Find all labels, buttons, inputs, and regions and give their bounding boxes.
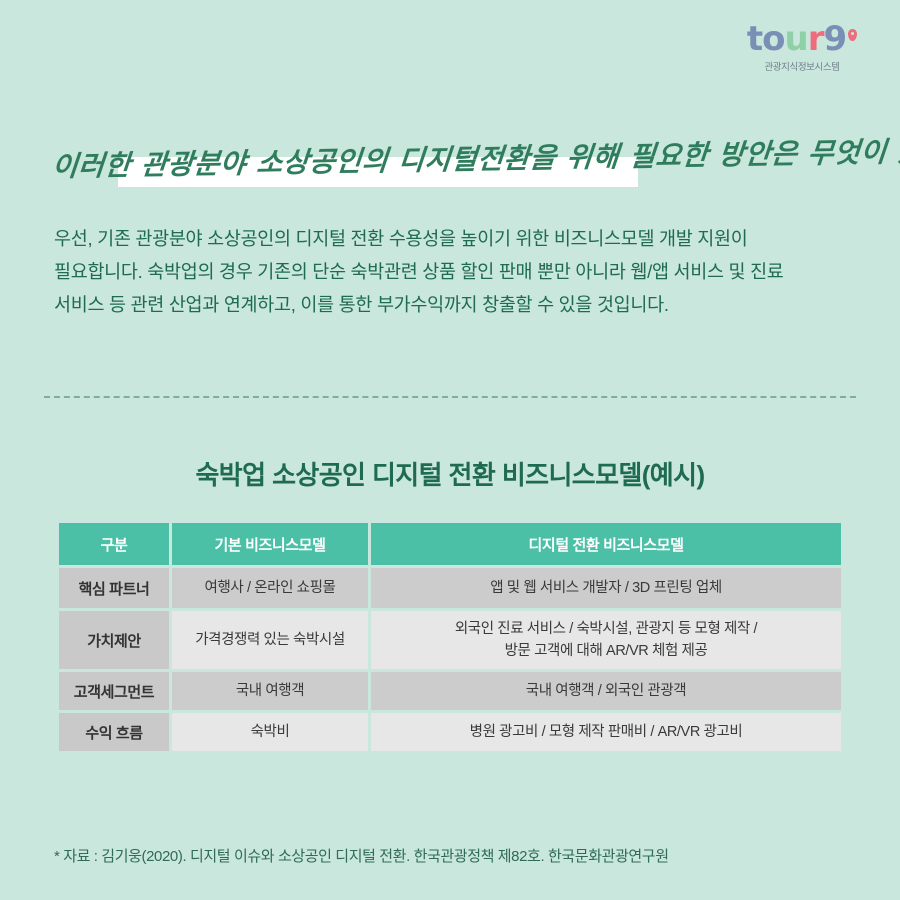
source-note: * 자료 : 김기웅(2020). 디지털 이슈와 소상공인 디지털 전환. 한…: [54, 845, 669, 866]
row-label-revenue-stream: 수익 흐름: [59, 713, 169, 751]
table-row: 고객세그먼트 국내 여행객 국내 여행객 / 외국인 관광객: [59, 672, 841, 710]
headline: 이러한 관광분야 소상공인의 디지털전환을 위해 필요한 방안은 무엇이 있을까…: [52, 143, 862, 191]
cell-basic-key-partners: 여행사 / 온라인 쇼핑몰: [172, 568, 368, 608]
row-label-value-proposition: 가치제안: [59, 611, 169, 669]
map-pin-icon: [848, 29, 857, 41]
table-row: 가치제안 가격경쟁력 있는 숙박시설 외국인 진료 서비스 / 숙박시설, 관광…: [59, 611, 841, 669]
dashed-divider: [44, 396, 856, 398]
cell-digital-revenue-stream: 병원 광고비 / 모형 제작 판매비 / AR/VR 광고비: [371, 713, 841, 751]
logo-letter-u: u: [784, 22, 807, 56]
cell-basic-customer-segment: 국내 여행객: [172, 672, 368, 710]
headline-text: 이러한 관광분야 소상공인의 디지털전환을 위해 필요한 방안은 무엇이 있을까…: [50, 129, 866, 191]
row-label-key-partners: 핵심 파트너: [59, 568, 169, 608]
logo-letter-t: t: [747, 22, 762, 56]
cell-digital-value-proposition: 외국인 진료 서비스 / 숙박시설, 관광지 등 모형 제작 / 방문 고객에 …: [371, 611, 841, 669]
body-line-2: 필요합니다. 숙박업의 경우 기존의 단순 숙박관련 상품 할인 판매 뿐만 아…: [54, 255, 866, 288]
body-line-1: 우선, 기존 관광분야 소상공인의 디지털 전환 수용성을 높이기 위한 비즈니…: [54, 222, 866, 255]
row-label-customer-segment: 고객세그먼트: [59, 672, 169, 710]
logo-letter-r: r: [808, 22, 824, 56]
logo-subtitle: 관광지식정보시스템: [732, 59, 872, 73]
table-header-row: 구분 기본 비즈니스모델 디지털 전환 비즈니스모델: [59, 523, 841, 565]
body-line-3: 서비스 등 관련 산업과 연계하고, 이를 통한 부가수익까지 창출할 수 있을…: [54, 288, 866, 321]
logo-letter-o: o: [762, 22, 784, 56]
column-header-basic-model: 기본 비즈니스모델: [172, 523, 368, 565]
table-title: 숙박업 소상공인 디지털 전환 비즈니스모델(예시): [0, 455, 900, 492]
cell-digital-value-proposition-line2: 방문 고객에 대해 AR/VR 체험 제공: [379, 640, 833, 662]
logo-letter-9: 9: [823, 22, 846, 56]
body-paragraph: 우선, 기존 관광분야 소상공인의 디지털 전환 수용성을 높이기 위한 비즈니…: [54, 222, 866, 321]
cell-basic-revenue-stream: 숙박비: [172, 713, 368, 751]
cell-basic-value-proposition: 가격경쟁력 있는 숙박시설: [172, 611, 368, 669]
column-header-category: 구분: [59, 523, 169, 565]
table-row: 수익 흐름 숙박비 병원 광고비 / 모형 제작 판매비 / AR/VR 광고비: [59, 713, 841, 751]
cell-digital-value-proposition-line1: 외국인 진료 서비스 / 숙박시설, 관광지 등 모형 제작 /: [379, 618, 833, 640]
site-logo: tour9 관광지식정보시스템: [732, 22, 872, 73]
cell-digital-key-partners: 앱 및 웹 서비스 개발자 / 3D 프린팅 업체: [371, 568, 841, 608]
business-model-table: 구분 기본 비즈니스모델 디지털 전환 비즈니스모델 핵심 파트너 여행사 / …: [56, 520, 844, 754]
column-header-digital-model: 디지털 전환 비즈니스모델: [371, 523, 841, 565]
logo-wordmark: tour9: [747, 22, 857, 56]
cell-digital-customer-segment: 국내 여행객 / 외국인 관광객: [371, 672, 841, 710]
table-row: 핵심 파트너 여행사 / 온라인 쇼핑몰 앱 및 웹 서비스 개발자 / 3D …: [59, 568, 841, 608]
